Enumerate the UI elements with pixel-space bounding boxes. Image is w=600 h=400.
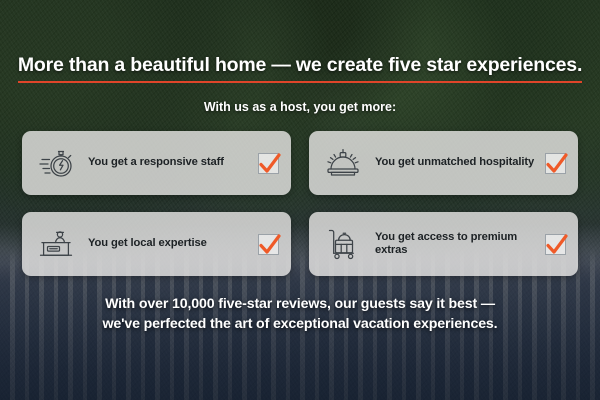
benefit-card-local-expertise[interactable]: You get local expertise — [22, 212, 291, 276]
footer-statement: With over 10,000 five-star reviews, our … — [40, 294, 560, 334]
benefit-card-responsive-staff[interactable]: You get a responsive staff — [22, 131, 291, 195]
benefit-checkbox[interactable] — [258, 234, 279, 255]
benefit-label: You get unmatched hospitality — [363, 156, 545, 169]
footer-line1-after: five-star reviews, our guests say it bes… — [215, 296, 495, 312]
subheading: With us as a host, you get more: — [0, 100, 600, 114]
benefit-checkbox[interactable] — [258, 153, 279, 174]
benefits-grid: You get a responsive staff You — [22, 131, 578, 276]
benefit-card-unmatched-hospitality[interactable]: You get unmatched hospitality — [309, 131, 578, 195]
benefit-card-premium-extras[interactable]: You get access to premium extras — [309, 212, 578, 276]
slide-content: More than a beautiful home — we create f… — [0, 0, 600, 400]
benefit-label: You get a responsive staff — [76, 156, 258, 169]
footer-line1-before: With over — [105, 296, 172, 312]
benefit-label: You get local expertise — [76, 237, 258, 250]
headline-container: More than a beautiful home — we create f… — [0, 54, 600, 83]
page-title: More than a beautiful home — we create f… — [18, 54, 582, 83]
benefit-checkbox[interactable] — [545, 234, 566, 255]
concierge-desk-icon — [36, 224, 76, 264]
benefit-label: You get access to premium extras — [363, 231, 545, 258]
service-bell-icon — [323, 143, 363, 183]
footer-review-count: 10,000 — [172, 296, 215, 312]
luggage-cart-icon — [323, 224, 363, 264]
stopwatch-icon — [36, 143, 76, 183]
benefit-checkbox[interactable] — [545, 153, 566, 174]
footer-line2: we've perfected the art of exceptional v… — [103, 316, 498, 332]
